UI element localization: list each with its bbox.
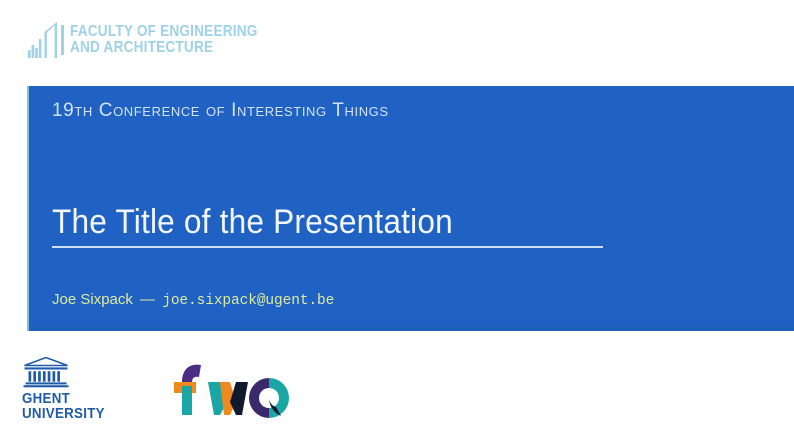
faculty-logo-divider [61,25,64,55]
ghent-university-logo: GHENT UNIVERSITY [22,357,118,422]
faculty-logo-line-1: FACULTY OF ENGINEERING [70,24,258,41]
skyline-bar-chart-buildings-icon [28,20,58,60]
fwo-wordmark-logo [168,360,294,422]
faculty-logo-text: FACULTY OF ENGINEERING AND ARCHITECTURE [70,24,258,57]
ghent-logo-line-2: UNIVERSITY [22,407,110,422]
title-block: The Title of the Presentation [52,204,752,248]
faculty-logo: FACULTY OF ENGINEERING AND ARCHITECTURE [28,18,283,62]
page-title: The Title of the Presentation [52,204,703,240]
ghent-university-text: GHENT UNIVERSITY [22,392,110,422]
author-contact-line: Joe Sixpack — joe.sixpack@ugent.be [52,291,334,309]
classical-temple-building-icon [22,357,70,388]
author-separator: — [137,291,158,308]
title-banner: 19th Conference of Interesting Things Th… [27,86,794,331]
author-email: joe.sixpack@ugent.be [162,293,334,309]
banner-bottom-rule [29,324,794,331]
title-underline-rule [52,246,603,248]
presentation-slide: FACULTY OF ENGINEERING AND ARCHITECTURE … [0,0,794,447]
author-name: Joe Sixpack [52,291,133,308]
fwo-logo [168,360,294,422]
conference-name: 19th Conference of Interesting Things [52,100,389,122]
ghent-logo-line-1: GHENT [22,392,110,407]
faculty-logo-line-2: AND ARCHITECTURE [70,40,258,57]
